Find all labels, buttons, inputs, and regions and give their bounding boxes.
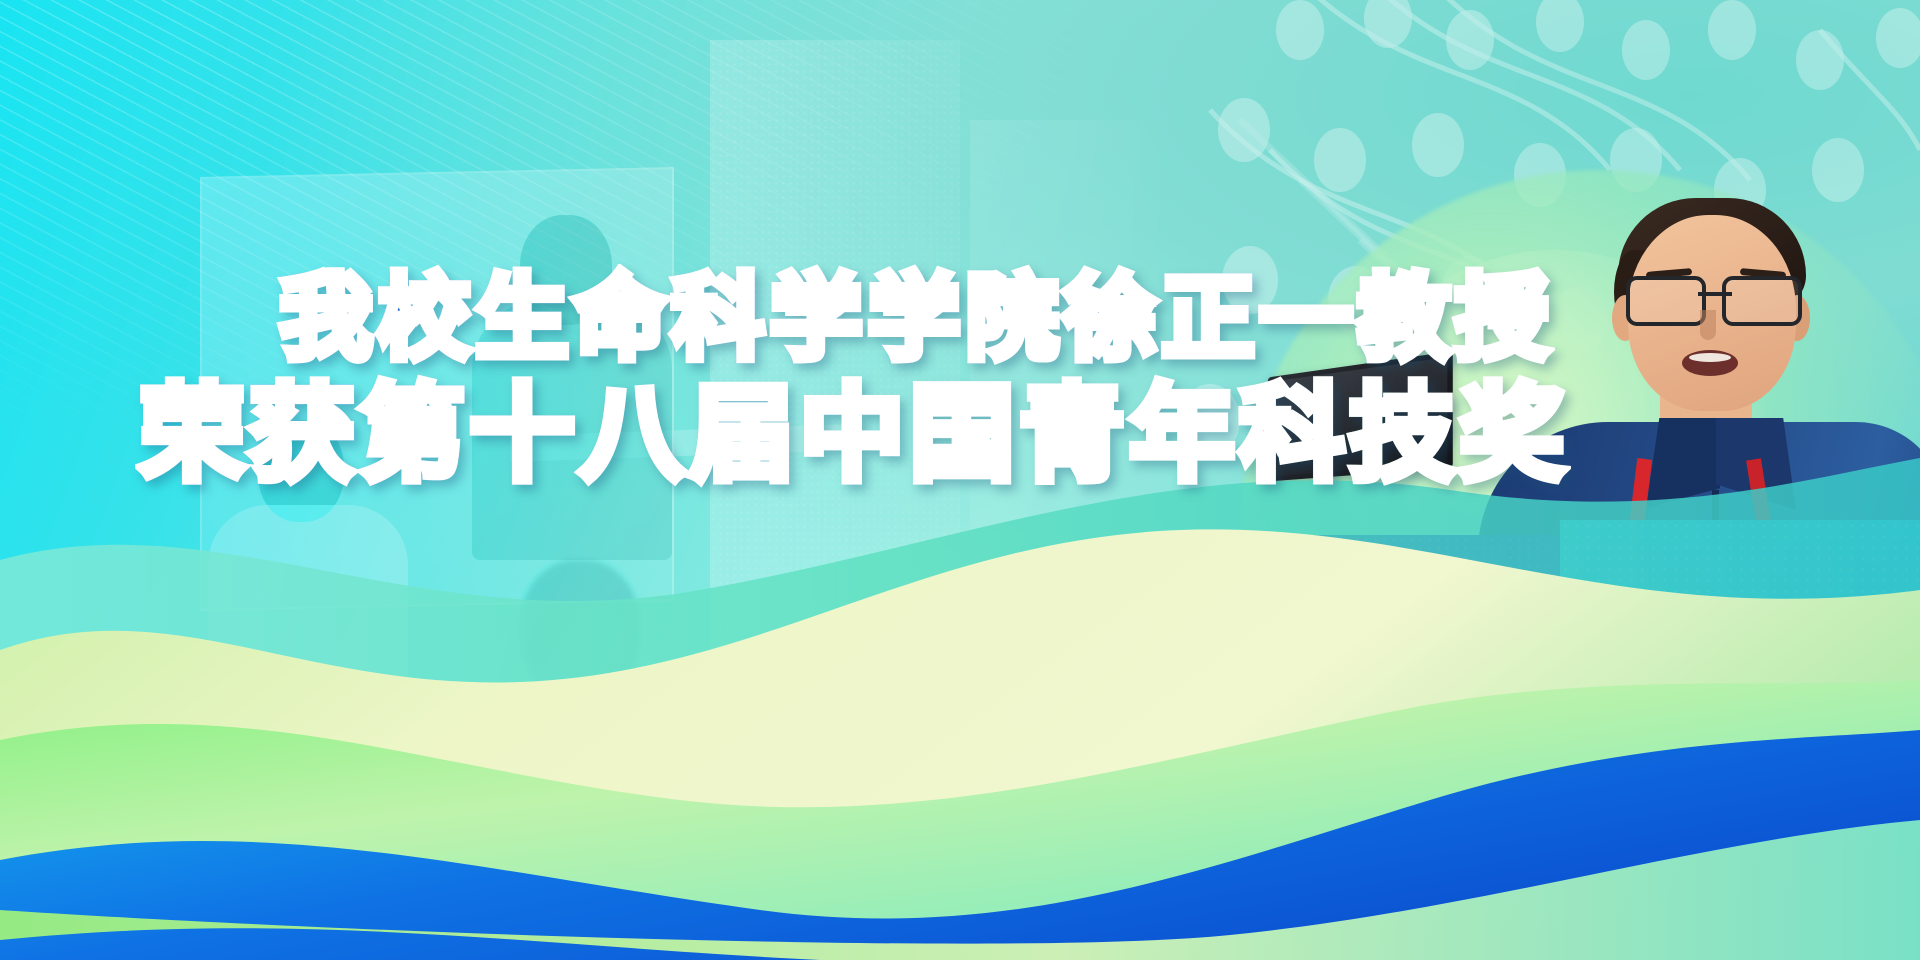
headline-block: 我校生命科学学院徐正一教授 荣获第十八届中国青年科技奖 (0, 272, 1400, 486)
headline-line-1: 我校生命科学学院徐正一教授 (280, 272, 1400, 364)
decorative-waves (0, 440, 1920, 960)
banner-image: 科普中国 植物科学与绿色发展 2024 全国植物生物学大会 (0, 0, 1920, 960)
headline-line-2: 荣获第十八届中国青年科技奖 (140, 382, 1400, 486)
speaker-nose (1700, 310, 1716, 340)
speaker-mouth (1682, 350, 1738, 376)
